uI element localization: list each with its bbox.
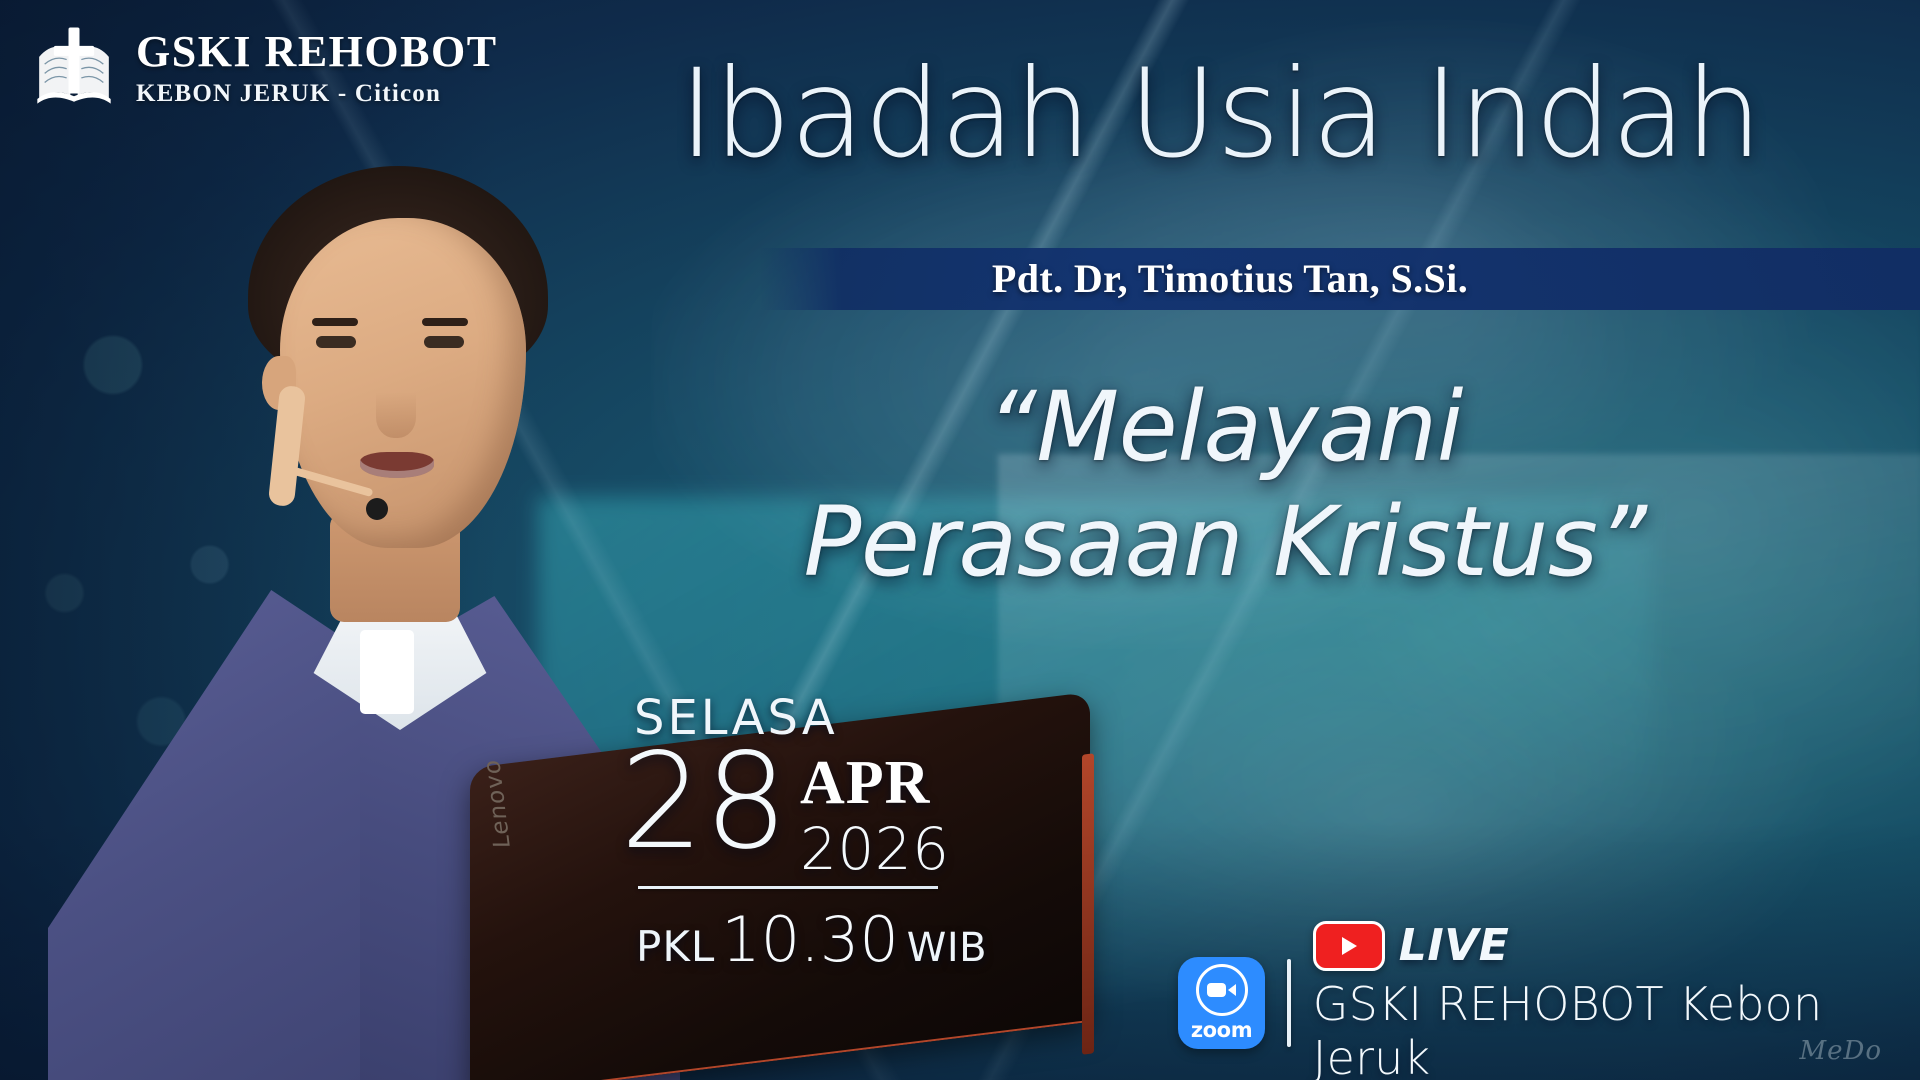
sermon-theme-line-2: Perasaan Kristus”	[610, 485, 1840, 600]
brand-logo: GSKI REHOBOT KEBON JERUK - Citicon	[28, 22, 498, 110]
zoom-logo[interactable]: zoom	[1178, 957, 1265, 1049]
headset-microphone-icon	[366, 498, 388, 520]
brand-subtitle: KEBON JERUK - Citicon	[136, 81, 498, 106]
sermon-theme-line-1: “Melayani	[987, 371, 1463, 483]
vertical-divider	[1287, 959, 1291, 1047]
mouth	[360, 452, 434, 478]
event-poster: Lenovo GSKI REHOBOT KEBON JERUK - Citico…	[0, 0, 1920, 1080]
nose	[376, 392, 416, 438]
time-row: PKL 10.30 WIB	[620, 903, 970, 976]
youtube-play-icon[interactable]	[1313, 921, 1385, 971]
eye-left	[316, 336, 356, 348]
schedule-divider	[638, 886, 938, 889]
live-label: LIVE	[1399, 920, 1510, 971]
year-label: 2026	[800, 820, 950, 878]
laptop-edge	[1082, 753, 1094, 1054]
zoom-label: zoom	[1191, 1018, 1252, 1042]
time-value: 10.30	[721, 903, 899, 976]
eye-right	[424, 336, 464, 348]
eyebrow-left	[312, 318, 358, 326]
event-title: Ibadah Usia Indah	[560, 52, 1880, 176]
schedule-block: SELASA 28 APR 2026 PKL 10.30 WIB	[620, 690, 970, 976]
brand-text: GSKI REHOBOT KEBON JERUK - Citicon	[136, 26, 498, 106]
brand-name: GSKI REHOBOT	[136, 30, 498, 74]
month-year: APR 2026	[788, 742, 950, 878]
video-camera-glyph	[1207, 981, 1237, 999]
clerical-tab	[360, 630, 414, 714]
sermon-theme: “Melayani Perasaan Kristus”	[610, 370, 1840, 600]
play-triangle-glyph	[1339, 935, 1359, 957]
month-label: APR	[800, 752, 950, 814]
time-timezone: WIB	[907, 925, 987, 971]
designer-watermark: MeDo	[1799, 1036, 1882, 1066]
zoom-video-camera-icon	[1196, 964, 1248, 1016]
eyebrow-right	[422, 318, 468, 326]
cross-over-open-book-icon	[28, 22, 120, 110]
speaker-name: Pdt. Dr, Timotius Tan, S.Si.	[700, 255, 1760, 302]
youtube-live-row: LIVE	[1313, 920, 1920, 971]
day-number: 28	[620, 742, 788, 863]
time-prefix: PKL	[636, 922, 715, 971]
face	[280, 218, 526, 548]
date-row: 28 APR 2026	[620, 742, 970, 878]
